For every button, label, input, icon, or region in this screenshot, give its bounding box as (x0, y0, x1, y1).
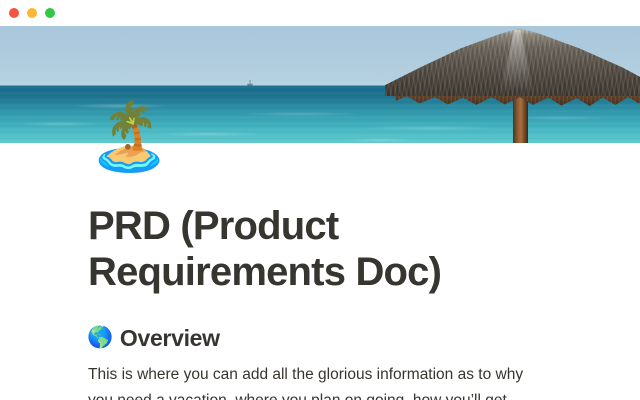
page-title[interactable]: PRD (Product Requirements Doc) (88, 203, 558, 295)
page-icon-desert-island[interactable]: 🏝️ (88, 99, 162, 173)
section-paragraph-overview[interactable]: This is where you can add all the glorio… (88, 362, 550, 400)
minimize-window-button[interactable] (27, 8, 37, 18)
section-heading-overview[interactable]: 🌎 Overview (87, 324, 220, 352)
zoom-window-button[interactable] (45, 8, 55, 18)
globe-americas-icon: 🌎 (87, 326, 113, 350)
app-window: 🏝️ PRD (Product Requirements Doc) 🌎 Over… (0, 0, 640, 400)
document-page: 🏝️ PRD (Product Requirements Doc) 🌎 Over… (0, 143, 640, 400)
window-titlebar (0, 0, 640, 26)
thatched-umbrella-icon (385, 26, 640, 143)
traffic-light-controls (9, 8, 55, 18)
section-heading-label: Overview (120, 324, 220, 352)
close-window-button[interactable] (9, 8, 19, 18)
